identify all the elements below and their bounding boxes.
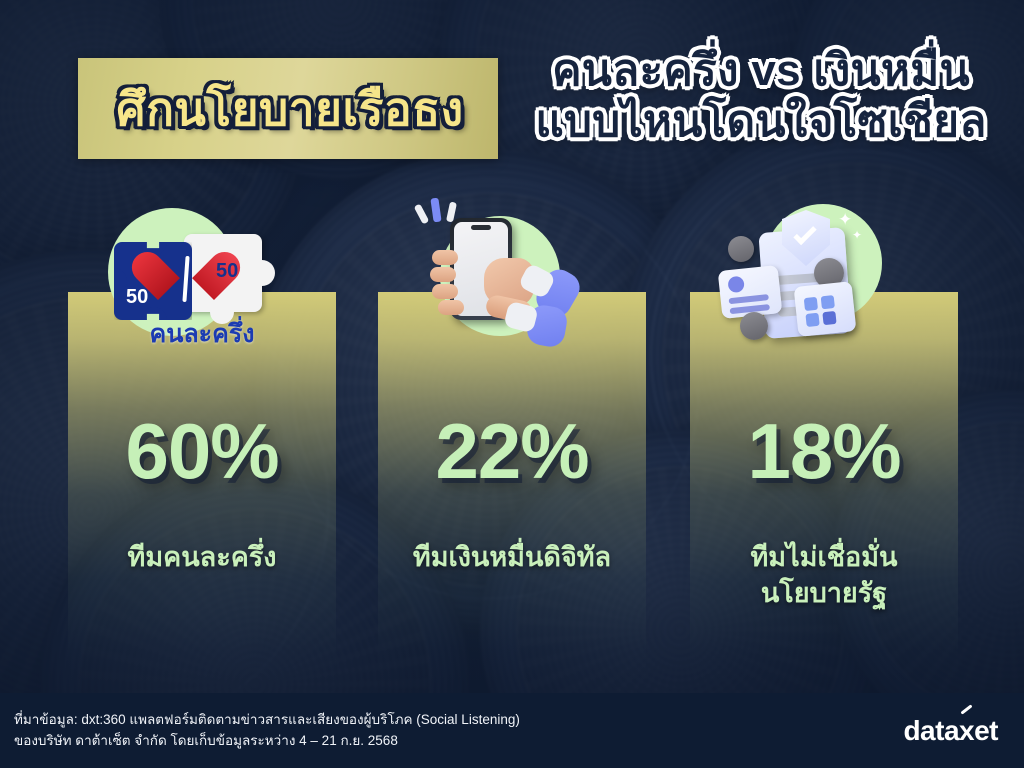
source-line-1: ที่มาข้อมูล: dxt:360 แพลตฟอร์มติดตามข่าว…	[14, 710, 520, 731]
heart-icon	[158, 254, 214, 306]
stat-percent-khon-la-khrueng: 60%	[68, 406, 336, 497]
icon-caption-khon-la-khrueng: คนละครึ่ง	[68, 314, 336, 354]
source-credit: ที่มาข้อมูล: dxt:360 แพลตฟอร์มติดตามข่าว…	[14, 710, 520, 752]
id-card-icon	[718, 265, 783, 319]
logo-text-part1: data	[903, 715, 959, 747]
stat-label-line1: ทีมไม่เชื่อมั่น	[674, 540, 974, 576]
calculator-icon	[794, 281, 857, 337]
statistics-card-group: 50 50 คนละครึ่ง	[0, 0, 1024, 694]
stat-label-khon-la-khrueng: ทีมคนละครึ่ง	[52, 540, 352, 576]
motion-line-icon	[430, 198, 441, 223]
stat-label-digital-wallet: ทีมเงินหมื่นดิจิทัล	[362, 540, 662, 576]
source-line-2: ของบริษัท ดาต้าเซ็ต จำกัด โดยเก็บข้อมูลร…	[14, 731, 520, 752]
sparkle-icon: ✦	[852, 228, 862, 242]
logo-text-part3: et	[974, 715, 998, 747]
khon-la-khrueng-puzzle-logo-icon: 50 50 คนละครึ่ง	[68, 196, 336, 346]
footer-bar: ที่มาข้อมูล: dxt:360 แพลตฟอร์มติดตามข่าว…	[0, 693, 1024, 768]
puzzle-value-left: 50	[126, 286, 148, 309]
stat-label-line1: ทีมคนละครึ่ง	[52, 540, 352, 576]
stat-percent-digital-wallet: 22%	[378, 406, 646, 497]
coin-icon	[740, 312, 768, 340]
stat-label-line2: นโยบายรัฐ	[674, 576, 974, 612]
stat-label-distrust: ทีมไม่เชื่อมั่น นโยบายรัฐ	[674, 540, 974, 611]
stat-percent-distrust: 18%	[690, 406, 958, 497]
stat-label-line1: ทีมเงินหมื่นดิจิทัล	[362, 540, 662, 576]
hand-holding-smartphone-icon	[378, 196, 646, 346]
document-shield-verification-icon: ✦ ✦	[690, 196, 958, 346]
motion-line-icon	[414, 204, 430, 225]
hand-icon	[430, 240, 562, 336]
coin-icon	[728, 236, 754, 262]
dataxet-logo: dataxet	[903, 715, 998, 747]
puzzle-pieces: 50 50	[104, 238, 284, 324]
sparkle-icon: ✦	[838, 210, 852, 230]
puzzle-value-right: 50	[216, 260, 238, 283]
logo-x-glyph: x	[959, 715, 974, 747]
